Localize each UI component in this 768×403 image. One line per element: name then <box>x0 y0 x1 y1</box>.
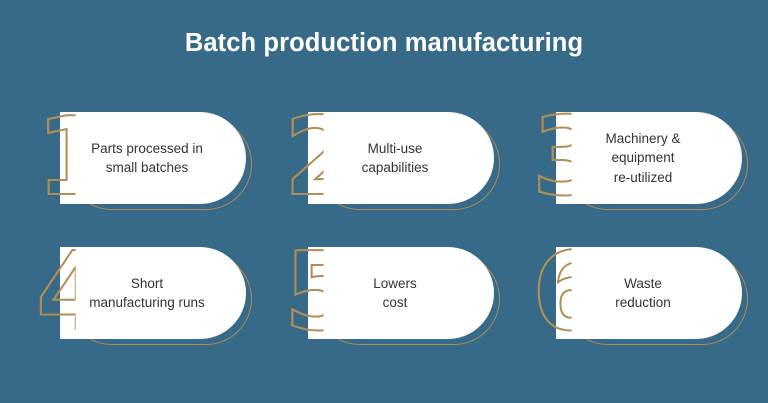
item-label: Lowers cost <box>373 274 417 312</box>
item-label: Short manufacturing runs <box>89 274 205 312</box>
item-label: Parts processed in small batches <box>91 139 203 177</box>
pill-6[interactable]: Waste reduction <box>556 247 742 339</box>
pill-3[interactable]: Machinery & equipment re-utilized <box>556 112 742 204</box>
item-label: Waste reduction <box>615 274 671 312</box>
list-item[interactable]: 3 Machinery & equipment re-utilized 3 <box>520 112 756 222</box>
list-item[interactable]: 2 Multi-use capabilities 2 <box>272 112 508 222</box>
item-label: Multi-use capabilities <box>362 139 429 177</box>
pill-5[interactable]: Lowers cost <box>308 247 494 339</box>
pill-1[interactable]: Parts processed in small batches <box>60 112 246 204</box>
list-item[interactable]: 4 Short manufacturing runs 4 <box>24 247 260 357</box>
item-label: Machinery & equipment re-utilized <box>605 129 680 186</box>
page-title: Batch production manufacturing <box>0 28 768 59</box>
infographic-canvas: Batch production manufacturing 1 Parts p… <box>0 0 768 403</box>
list-item[interactable]: 6 Waste reduction 6 <box>520 247 756 357</box>
list-item[interactable]: 1 Parts processed in small batches 1 <box>24 112 260 222</box>
pill-2[interactable]: Multi-use capabilities <box>308 112 494 204</box>
pill-4[interactable]: Short manufacturing runs <box>60 247 246 339</box>
items-grid: 1 Parts processed in small batches 1 2 M… <box>0 112 768 382</box>
list-item[interactable]: 5 Lowers cost 5 <box>272 247 508 357</box>
